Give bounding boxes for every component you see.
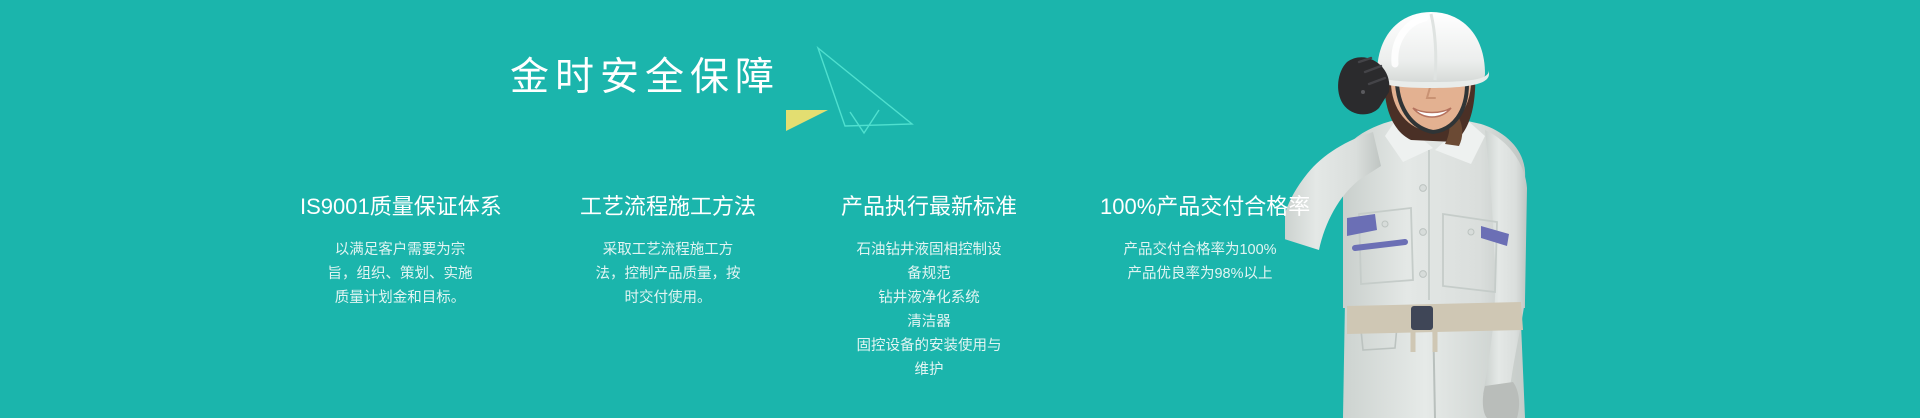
chevron-down-icon (850, 110, 879, 133)
feature-body-line: 产品优良率为98%以上 (1100, 262, 1300, 286)
feature-body-line: 法，控制产品质量，按 (578, 262, 758, 286)
feature-body-line: 维护 (836, 358, 1022, 382)
filled-triangle-icon (786, 110, 828, 131)
worker-button (1420, 229, 1427, 236)
worker-pocket-button (1468, 229, 1474, 235)
feature-body-line: 时交付使用。 (578, 286, 758, 310)
feature-title-3: 产品执行最新标准 (836, 192, 1022, 222)
worker-belt (1347, 302, 1523, 334)
worker-belt-buckle (1411, 306, 1433, 330)
worker-pocket-button (1382, 221, 1388, 227)
feature-title-2: 工艺流程施工方法 (578, 192, 758, 222)
feature-body-line: 采取工艺流程施工方 (578, 238, 758, 262)
feature-column-2: 工艺流程施工方法 采取工艺流程施工方 法，控制产品质量，按 时交付使用。 (578, 192, 758, 310)
feature-body-line: 固控设备的安装使用与 (836, 334, 1022, 358)
promo-banner: 金时安全保障 IS9001质量保证体系 以满足客户需要为宗 旨，组织、策划、实施… (0, 0, 1920, 418)
feature-column-3: 产品执行最新标准 石油钻井液固相控制设 备规范 钻井液净化系统 清洁器 固控设备… (836, 192, 1022, 382)
worker-button (1420, 271, 1427, 278)
worker-lower-glove (1483, 382, 1519, 418)
feature-body-line: 产品交付合格率为100% (1100, 238, 1300, 262)
page-title: 金时安全保障 (0, 50, 1290, 106)
feature-title-4: 100%产品交付合格率 (1100, 192, 1300, 222)
feature-body-line: 石油钻井液固相控制设 (836, 238, 1022, 262)
feature-body-line: 备规范 (836, 262, 1022, 286)
feature-column-4: 100%产品交付合格率 产品交付合格率为100% 产品优良率为98%以上 (1100, 192, 1300, 286)
feature-columns: IS9001质量保证体系 以满足客户需要为宗 旨，组织、策划、实施 质量计划金和… (300, 192, 1300, 382)
feature-body-1: 以满足客户需要为宗 旨，组织、策划、实施 质量计划金和目标。 (300, 238, 500, 310)
feature-column-1: IS9001质量保证体系 以满足客户需要为宗 旨，组织、策划、实施 质量计划金和… (300, 192, 500, 310)
feature-body-line: 旨，组织、策划、实施 (300, 262, 500, 286)
worker-glove-dot (1361, 90, 1365, 94)
feature-body-line: 以满足客户需要为宗 (300, 238, 500, 262)
feature-body-3: 石油钻井液固相控制设 备规范 钻井液净化系统 清洁器 固控设备的安装使用与 维护 (836, 238, 1022, 382)
feature-body-line: 钻井液净化系统 (836, 286, 1022, 310)
worker-button (1420, 185, 1427, 192)
worker-photo (1285, 0, 1615, 418)
feature-body-line: 清洁器 (836, 310, 1022, 334)
feature-body-4: 产品交付合格率为100% 产品优良率为98%以上 (1100, 238, 1300, 286)
feature-title-1: IS9001质量保证体系 (300, 192, 500, 222)
feature-body-line: 质量计划金和目标。 (300, 286, 500, 310)
feature-body-2: 采取工艺流程施工方 法，控制产品质量，按 时交付使用。 (578, 238, 758, 310)
